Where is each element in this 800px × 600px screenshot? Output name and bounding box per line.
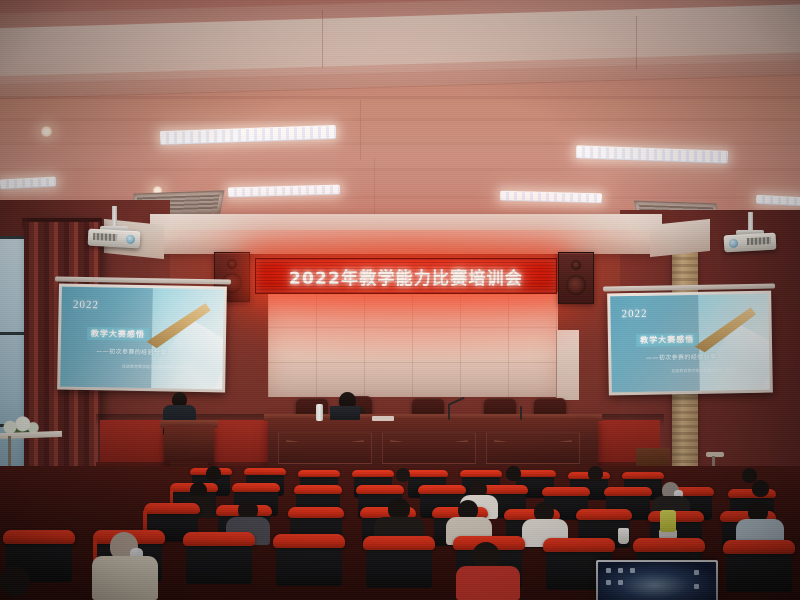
yellow-bag xyxy=(660,510,676,532)
head-table xyxy=(268,418,598,472)
left-projection-screen: 2022 教学大赛感悟 ——初次参赛的经验分享 技能教育教学能力比赛培训会 主讲… xyxy=(57,284,227,393)
attendee-head xyxy=(206,466,221,481)
right-slide: 2022 教学大赛感悟 ——初次参赛的经验分享 技能教育教学能力比赛培训会 主讲… xyxy=(610,294,770,393)
attendee-head xyxy=(588,466,603,481)
ceiling-light-fixture xyxy=(576,145,728,163)
projector-mount-pole xyxy=(748,212,753,232)
stage-backdrop-wall xyxy=(268,292,558,397)
slide-title: 教学大赛感悟 xyxy=(636,333,698,347)
microphone xyxy=(448,404,450,420)
lectern xyxy=(164,426,214,464)
projector-mount-pole xyxy=(112,206,117,228)
audience-seat[interactable] xyxy=(366,540,432,588)
left-ceiling-projector xyxy=(88,229,141,249)
slide-year: 2022 xyxy=(73,299,99,311)
attendee-head xyxy=(506,466,521,481)
right-ceiling-projector xyxy=(724,233,777,253)
slide-org: 技能教育教学能力比赛培训会 主讲人 xyxy=(671,367,736,374)
audience-seat[interactable] xyxy=(186,536,252,584)
attendee-head xyxy=(0,566,30,596)
slide-title: 教学大赛感悟 xyxy=(87,327,149,341)
attendee-shoulders xyxy=(92,556,158,600)
conference-hall-photo: 2022年教学能力比赛培训会 2022 教学大赛感悟 ——初次参赛的经验分享 技… xyxy=(0,0,800,600)
slide-subtitle: ——初次参赛的经验分享 xyxy=(646,351,717,361)
audience-seat[interactable] xyxy=(726,544,792,592)
ceiling-light-fixture xyxy=(500,191,602,204)
led-banner: 2022年教学能力比赛培训会 xyxy=(255,258,557,294)
microphone xyxy=(520,406,522,420)
attendee-head xyxy=(396,468,410,482)
attendee-laptop-screen xyxy=(598,562,716,600)
host-laptop xyxy=(330,406,360,420)
thermos xyxy=(316,404,323,421)
right-projection-screen: 2022 教学大赛感悟 ——初次参赛的经验分享 技能教育教学能力比赛培训会 主讲… xyxy=(607,291,773,396)
audience-seat[interactable] xyxy=(276,538,342,586)
ceiling-downlight xyxy=(40,126,53,137)
back-door xyxy=(556,330,579,400)
left-slide: 2022 教学大赛感悟 ——初次参赛的经验分享 技能教育教学能力比赛培训会 主讲… xyxy=(60,287,224,390)
side-table-leg xyxy=(8,436,11,466)
stage-soffit xyxy=(150,214,662,254)
slide-subtitle: ——初次参赛的经验分享 xyxy=(96,346,167,356)
attendee-shoulders xyxy=(456,566,520,600)
slide-year: 2022 xyxy=(621,307,647,319)
stool-top xyxy=(706,452,724,457)
stage-speaker-right xyxy=(558,252,594,304)
papers xyxy=(372,416,394,421)
stage-soffit-right xyxy=(650,219,710,257)
attendee-laptop[interactable] xyxy=(596,560,718,600)
paper-cup xyxy=(618,528,629,544)
attendee-head xyxy=(752,480,769,497)
slide-org: 技能教育教学能力比赛培训会 主讲人 xyxy=(122,364,187,371)
ceiling-light-fixture xyxy=(0,177,56,190)
ceiling-light-fixture xyxy=(756,195,800,206)
